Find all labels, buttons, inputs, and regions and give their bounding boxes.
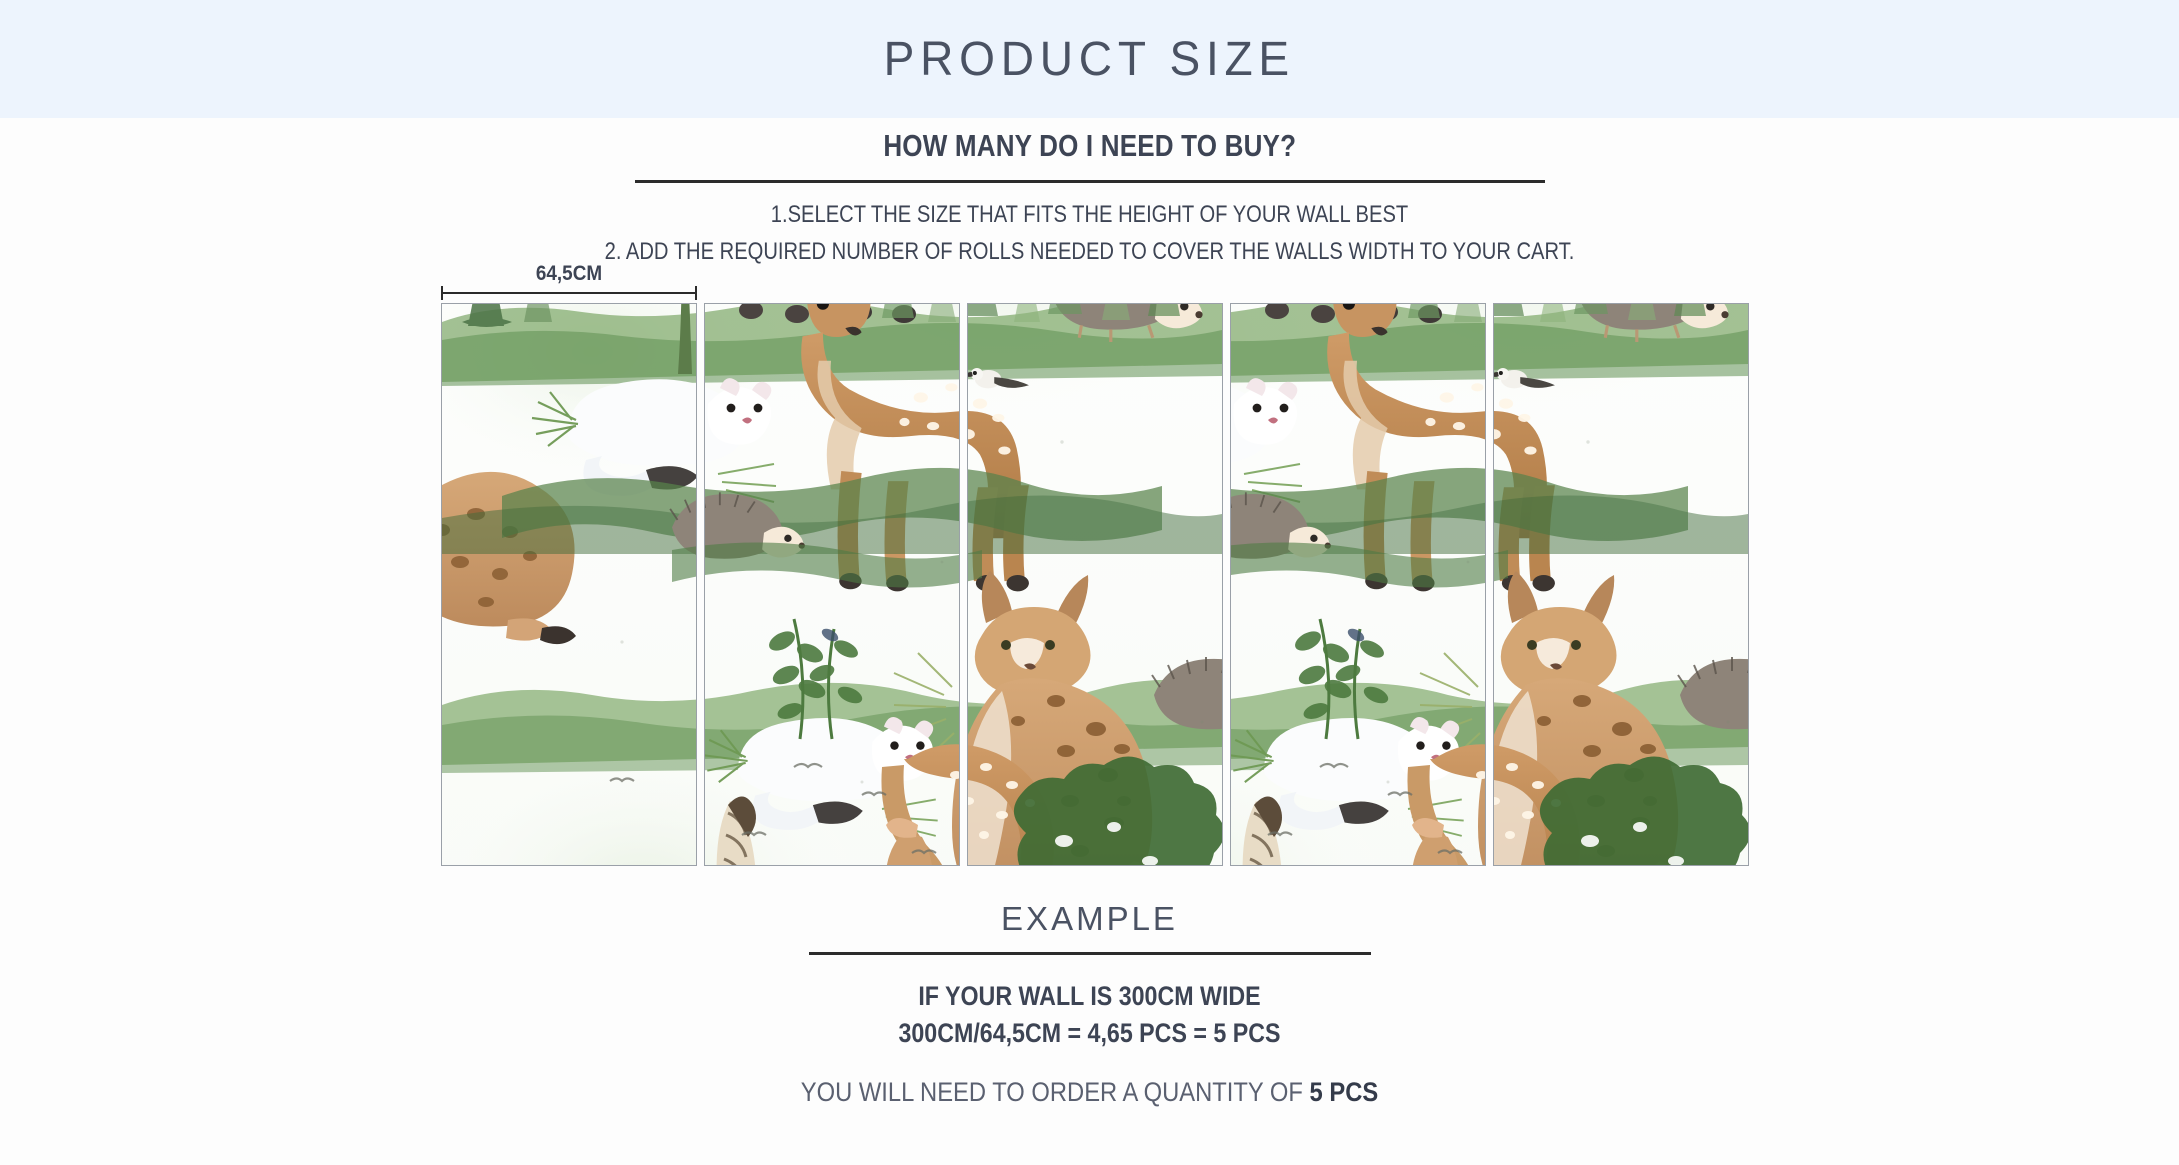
example-title: EXAMPLE [1001, 900, 1178, 938]
instructions-question: HOW MANY DO I NEED TO BUY? [883, 128, 1296, 164]
dimension-line [441, 292, 697, 294]
woodland-pattern-svg [967, 303, 1222, 866]
woodland-pattern-art [704, 303, 960, 866]
woodland-pattern-svg [1230, 303, 1486, 866]
roll-width-label: 64,5CM [454, 262, 684, 286]
page-title: PRODUCT SIZE [884, 32, 1295, 87]
woodland-pattern-art [1230, 303, 1486, 866]
example-order-prefix: YOU WILL NEED TO ORDER A QUANTITY OF [801, 1077, 1310, 1107]
wallpaper-panel-strip [441, 303, 1737, 866]
wallpaper-panel[interactable] [1493, 303, 1749, 866]
wallpaper-panel[interactable] [1230, 303, 1486, 866]
example-divider [809, 952, 1371, 955]
woodland-pattern-svg [704, 303, 960, 866]
wallpaper-panel[interactable] [967, 303, 1223, 866]
example-block: EXAMPLE IF YOUR WALL IS 300CM WIDE 300CM… [0, 900, 2179, 1108]
product-size-header: PRODUCT SIZE [0, 0, 2179, 118]
example-order-value: 5 PCS [1310, 1077, 1379, 1107]
woodland-pattern-art [967, 303, 1222, 866]
wallpaper-panel[interactable] [704, 303, 960, 866]
wallpaper-panel[interactable] [441, 303, 697, 866]
example-wall-width: IF YOUR WALL IS 300CM WIDE [153, 981, 2027, 1012]
woodland-pattern-art [1493, 303, 1748, 866]
woodland-pattern-art [442, 303, 697, 866]
instruction-step-1: 1.SELECT THE SIZE THAT FITS THE HEIGHT O… [174, 201, 2004, 229]
roll-width-dimension: 64,5CM [441, 262, 697, 300]
instructions-divider [635, 180, 1545, 183]
woodland-pattern-svg [1493, 303, 1748, 866]
example-calculation: 300CM/64,5CM = 4,65 PCS = 5 PCS [153, 1018, 2027, 1049]
dimension-tick-right [695, 286, 697, 300]
example-order-quantity: YOU WILL NEED TO ORDER A QUANTITY OF 5 P… [131, 1077, 2049, 1108]
dimension-tick-left [441, 286, 443, 300]
woodland-pattern-svg [442, 303, 697, 866]
instructions-block: HOW MANY DO I NEED TO BUY? 1.SELECT THE … [0, 128, 2179, 266]
